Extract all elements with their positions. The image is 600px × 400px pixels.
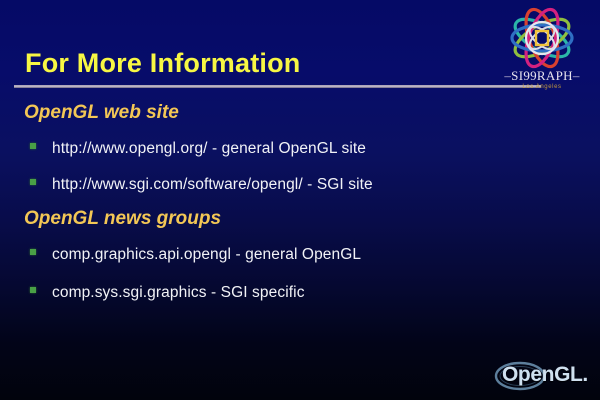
- bullet-square-icon: [30, 179, 36, 185]
- opengl-logo: OpenGL.: [494, 358, 594, 394]
- opengl-wordmark: OpenGL.: [502, 363, 588, 387]
- list-item: comp.sys.sgi.graphics - SGI specific: [30, 284, 305, 302]
- page-title: For More Information: [25, 48, 301, 79]
- list-item: http://www.opengl.org/ - general OpenGL …: [30, 140, 366, 158]
- bullet-square-icon: [30, 249, 36, 255]
- siggraph-city-label: Los Angeles: [490, 84, 594, 90]
- list-item-label: comp.sys.sgi.graphics - SGI specific: [52, 284, 305, 302]
- list-item: http://www.sgi.com/software/opengl/ - SG…: [30, 176, 373, 194]
- siggraph-dash-right: –: [573, 68, 580, 83]
- list-item-label: http://www.opengl.org/ - general OpenGL …: [52, 140, 366, 158]
- siggraph-rings-icon: [490, 6, 594, 76]
- siggraph-wordmark: –SI99RAPH–: [490, 68, 594, 84]
- siggraph-wordmark-text: SI99RAPH: [511, 68, 573, 83]
- siggraph-logo: –SI99RAPH– Los Angeles: [490, 6, 594, 100]
- list-item: comp.graphics.api.opengl - general OpenG…: [30, 246, 361, 264]
- bullet-square-icon: [30, 287, 36, 293]
- section-heading-news-groups: OpenGL news groups: [24, 208, 221, 230]
- list-item-label: comp.graphics.api.opengl - general OpenG…: [52, 246, 361, 264]
- slide-canvas: For More Information OpenGL web site htt…: [0, 0, 600, 400]
- section-heading-web-site: OpenGL web site: [24, 102, 179, 124]
- title-divider: [14, 85, 541, 88]
- bullet-square-icon: [30, 143, 36, 149]
- list-item-label: http://www.sgi.com/software/opengl/ - SG…: [52, 176, 373, 194]
